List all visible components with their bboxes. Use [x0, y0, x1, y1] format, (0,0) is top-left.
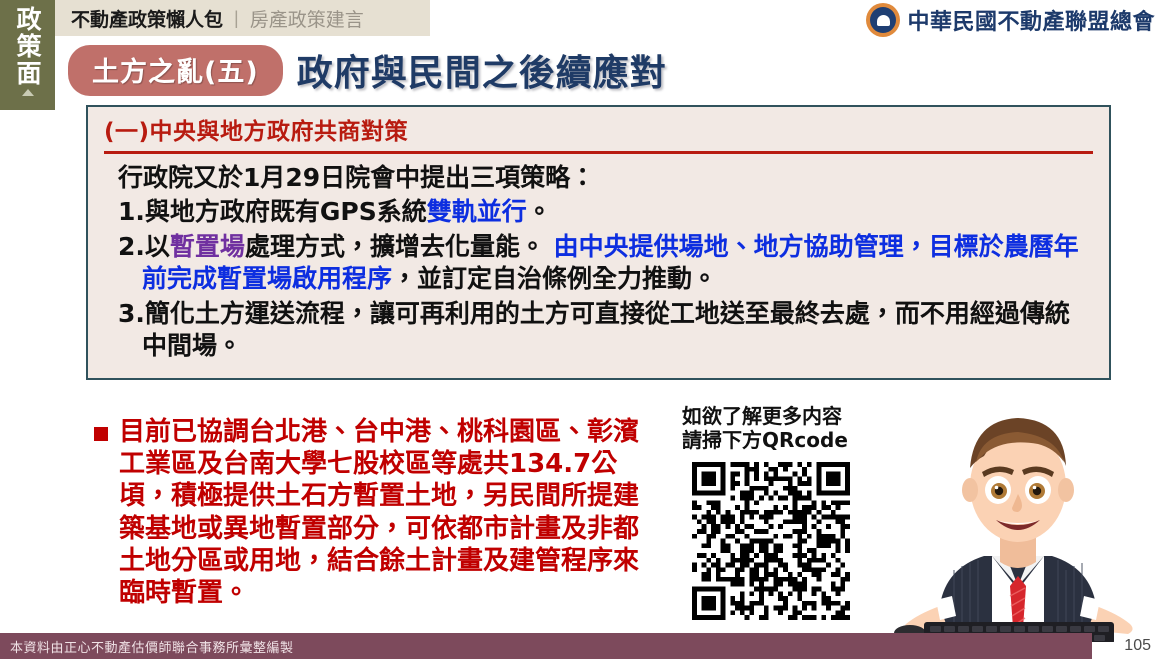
list-item-run: 處理方式，擴增去化量能。	[245, 232, 554, 261]
logo-text: 中華民國不動產聯盟總會	[907, 4, 1155, 36]
businessman-with-keyboard-illustration	[888, 390, 1148, 642]
list-item-run: 雙軌並行	[427, 197, 527, 226]
association-seal-icon	[866, 3, 900, 37]
breadcrumb: 不動產政策懶人包 | 房產政策建言	[55, 0, 430, 36]
list-item-body: 與地方政府既有GPS系統雙軌並行。	[145, 197, 552, 226]
list-item-run: 以	[145, 232, 170, 261]
highlight-block: 目前已協調台北港、台中港、桃科園區、彰濱工業區及台南大學七股校區等處共134.7…	[94, 416, 659, 609]
qr-code-svg	[692, 462, 850, 620]
breadcrumb-item-active[interactable]: 不動產政策懶人包	[71, 5, 223, 32]
numbered-list: 1.與地方政府既有GPS系統雙軌並行。2.以暫置場處理方式，擴增去化量能。 由中…	[104, 196, 1093, 363]
brand-logo: 中華民國不動產聯盟總會	[866, 3, 1155, 37]
list-item-run: 暫置場	[170, 232, 245, 261]
numbered-list-item: 2.以暫置場處理方式，擴增去化量能。 由中央提供場地、地方協助管理，目標於農曆年…	[104, 231, 1093, 296]
footer-bar: 本資料由正心不動產估價師聯合事務所彙整編製	[0, 633, 1092, 659]
list-item-run: 簡化土方運送流程，讓可再利用的土方可直接從工地送至最終去處，而不用經過傳統中間場…	[142, 299, 1070, 361]
highlight-text: 目前已協調台北港、台中港、桃科園區、彰濱工業區及台南大學七股校區等處共134.7…	[119, 416, 659, 609]
list-item-run: ，並訂定自治條例全力推動。	[392, 264, 717, 293]
page-title: 土方之亂(五) 政府與民間之後續應對	[68, 44, 667, 96]
content-panel: (一)中央與地方政府共商對策 行政院又於1月29日院會中提出三項策略： 1.與地…	[86, 105, 1111, 380]
list-item-body: 以暫置場處理方式，擴增去化量能。 由中央提供場地、地方協助管理，目標於農曆年前完…	[142, 232, 1079, 294]
numbered-list-item: 3.簡化土方運送流程，讓可再利用的土方可直接從工地送至最終去處，而不用經過傳統中…	[104, 298, 1093, 363]
title-badge: 土方之亂(五)	[68, 45, 283, 96]
qr-caption-line: 如欲了解更多内容	[682, 404, 848, 428]
list-item-marker: 2.	[118, 232, 145, 261]
businessman-svg	[888, 390, 1148, 642]
heading-divider	[104, 151, 1093, 154]
breadcrumb-separator: |	[234, 8, 239, 29]
qr-caption-line: 請掃下方QRcode	[682, 428, 848, 452]
qr-code-icon[interactable]	[686, 456, 856, 626]
footer-text: 本資料由正心不動產估價師聯合事務所彙整編製	[10, 637, 294, 656]
qr-caption: 如欲了解更多内容請掃下方QRcode	[682, 404, 848, 453]
numbered-list-item: 1.與地方政府既有GPS系統雙軌並行。	[104, 196, 1093, 229]
list-item-marker: 1.	[118, 197, 145, 226]
list-item-run: 。	[527, 197, 552, 226]
list-item-body: 簡化土方運送流程，讓可再利用的土方可直接從工地送至最終去處，而不用經過傳統中間場…	[142, 299, 1070, 361]
list-item-marker: 3.	[118, 299, 145, 328]
title-heading: 政府與民間之後續應對	[297, 44, 667, 96]
square-bullet-icon	[94, 427, 108, 441]
sidebar-tab-policy[interactable]: 政策面	[0, 0, 55, 110]
content-heading: (一)中央與地方政府共商對策	[104, 118, 1093, 147]
sidebar-tab-label: 政策面	[14, 6, 41, 87]
list-item-run: 與地方政府既有GPS系統	[145, 197, 427, 226]
triangle-down-icon	[22, 89, 34, 96]
slide-root: 政策面 不動產政策懶人包 | 房產政策建言 中華民國不動產聯盟總會 土方之亂(五…	[0, 0, 1169, 659]
content-lead: 行政院又於1月29日院會中提出三項策略：	[104, 161, 1093, 195]
breadcrumb-item-inactive[interactable]: 房產政策建言	[250, 5, 364, 32]
page-number: 105	[1124, 637, 1151, 655]
